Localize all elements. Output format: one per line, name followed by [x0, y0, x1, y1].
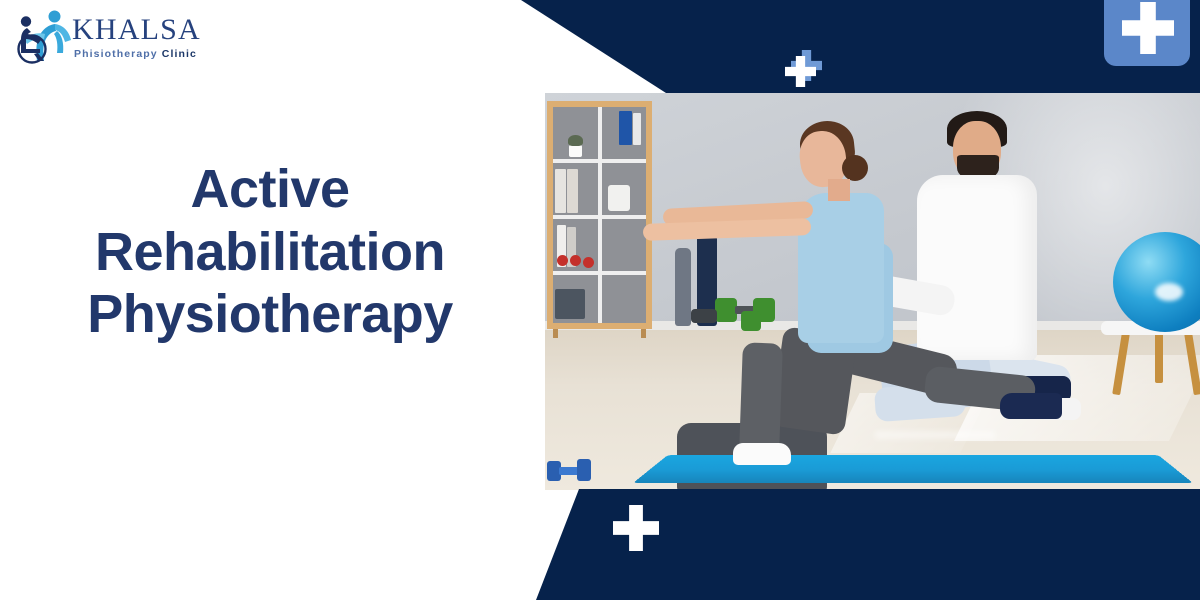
plant-pot: [569, 145, 582, 157]
hero-photo: [545, 93, 1200, 490]
hand-weight: [570, 255, 581, 266]
medical-cross-icon: [1122, 2, 1174, 54]
medical-cross-shadow-icon: [791, 50, 822, 81]
shelf-interior: [553, 107, 646, 323]
dumbbell-dark: [691, 309, 717, 323]
plant-foliage: [568, 135, 583, 146]
headline-line-2: Rehabilitation: [0, 221, 540, 284]
brand-name: KHALSA: [72, 15, 201, 45]
storage-bin: [555, 289, 585, 319]
ring-binder: [619, 111, 632, 145]
shelf-leg: [641, 329, 646, 338]
therapist-scrub-top: [917, 175, 1037, 360]
medical-cross-badge: [1104, 0, 1190, 66]
medical-cross-icon: [785, 56, 816, 87]
patient-neck: [828, 179, 850, 201]
patient-front-shin: [739, 342, 783, 453]
hero-banner: KHALSA Phisiotherapy Clinic Active Rehab…: [0, 0, 1200, 600]
dumbbell-green: [715, 298, 737, 322]
shelf-leg: [553, 329, 558, 338]
hand-weight: [583, 257, 594, 268]
dumbbell-blue-bar: [559, 467, 579, 475]
exercise-mat-highlight: [875, 431, 995, 439]
headline-line-1: Active: [0, 158, 540, 221]
page-title: Active Rehabilitation Physiotherapy: [0, 158, 540, 346]
patient-shoe: [1000, 393, 1062, 419]
brand-logo-text: KHALSA Phisiotherapy Clinic: [72, 15, 201, 60]
stool-leg: [1155, 333, 1163, 383]
brand-logo[interactable]: KHALSA Phisiotherapy Clinic: [14, 6, 254, 68]
shelf-cell: [602, 275, 646, 323]
patient-hair-bun: [842, 155, 868, 181]
patient-sock: [733, 443, 791, 465]
foam-roller: [675, 248, 691, 326]
ring-binder: [555, 169, 566, 213]
storage-box: [608, 185, 630, 211]
ring-binder: [633, 113, 641, 145]
shelf-cell: [602, 219, 646, 271]
dumbbell-blue: [577, 459, 591, 481]
exercise-ball-highlight: [1155, 283, 1183, 301]
brand-tagline: Phisiotherapy Clinic: [74, 49, 201, 60]
headline-line-3: Physiotherapy: [0, 283, 540, 346]
ring-binder: [567, 169, 578, 213]
brand-tagline-main: Phisiotherapy: [74, 48, 158, 60]
wheelchair-and-person-icon: [14, 9, 72, 65]
medical-cross-icon: [613, 505, 659, 551]
brand-tagline-accent: Clinic: [162, 48, 197, 60]
dumbbell-green: [741, 311, 761, 331]
hand-weight: [557, 255, 568, 266]
shelving-unit: [547, 101, 652, 329]
